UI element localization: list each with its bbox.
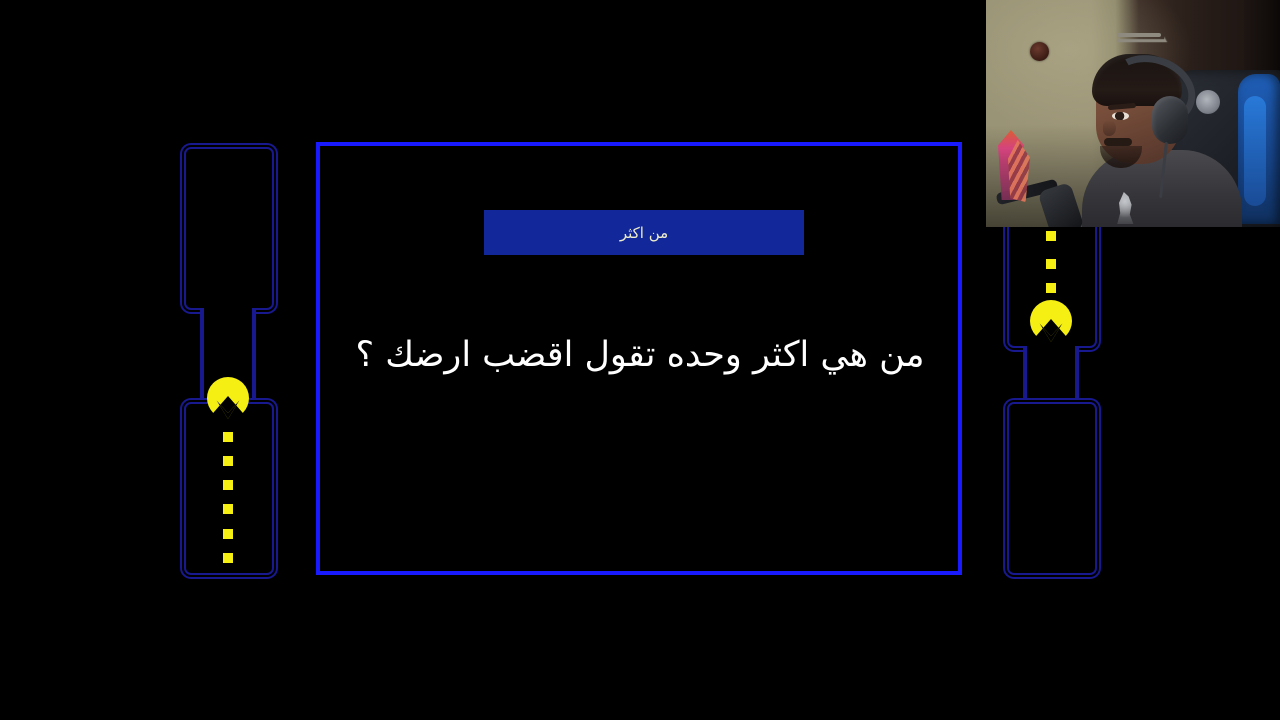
left-progress-dot: [223, 529, 233, 539]
headphone-earcup: [1152, 96, 1188, 144]
right-pacman-icon: [1030, 300, 1072, 342]
wall-triangle-decor-bar: [1117, 33, 1161, 37]
left-progress-dot: [223, 504, 233, 514]
streamer-facecam: [986, 0, 1280, 227]
category-banner-label: من اكثر: [620, 224, 668, 242]
screen-root: من اكثر من هي اكثر وحده تقول اقضب ارضك ؟: [0, 0, 1280, 720]
left-pacman-icon: [207, 377, 249, 419]
question-text: من هي اكثر وحده تقول اقضب ارضك ؟: [336, 332, 944, 379]
left-progress-top-segment: [184, 147, 274, 310]
streamer-nose: [1103, 120, 1116, 136]
left-progress-dot: [223, 553, 233, 563]
left-progress-dot: [223, 432, 233, 442]
question-panel: من اكثر من هي اكثر وحده تقول اقضب ارضك ؟: [316, 142, 962, 575]
right-progress-dot: [1046, 283, 1056, 293]
right-progress-dot: [1046, 231, 1056, 241]
gaming-chair-blue-inner: [1244, 96, 1266, 206]
left-progress-dot: [223, 456, 233, 466]
category-banner: من اكثر: [484, 210, 804, 255]
left-progress-dot: [223, 480, 233, 490]
right-progress-neck: [1025, 346, 1077, 404]
right-progress-bottom-segment: [1007, 402, 1097, 575]
wall-badge-decor-icon: [1030, 42, 1049, 61]
gaming-chair-logo-icon: [1196, 90, 1220, 114]
streamer-mustache: [1104, 138, 1132, 146]
right-progress-dot: [1046, 259, 1056, 269]
